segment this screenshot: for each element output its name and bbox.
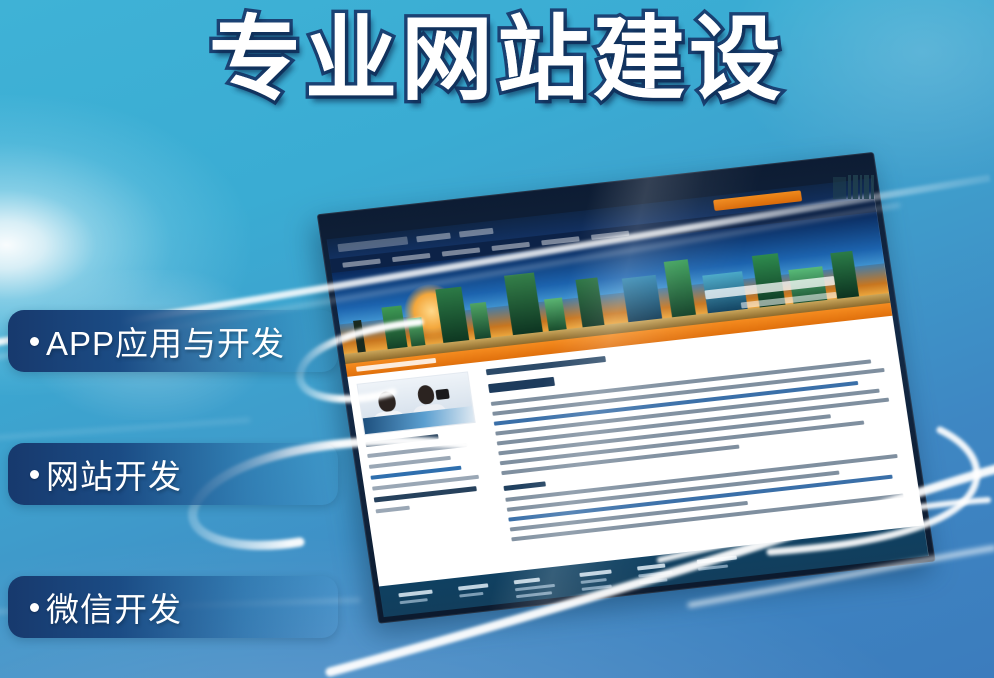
footer-link bbox=[638, 571, 672, 578]
footer-column bbox=[637, 563, 678, 613]
barcode-bar bbox=[871, 175, 874, 199]
sidebar-line bbox=[365, 434, 438, 447]
nav-link bbox=[416, 233, 451, 243]
footer-heading bbox=[697, 555, 737, 563]
person-head bbox=[417, 384, 436, 405]
feature-item-wechat[interactable]: 微信开发 bbox=[8, 576, 338, 638]
footer-link bbox=[582, 585, 612, 591]
footer-column bbox=[398, 590, 439, 618]
subnav-link bbox=[392, 252, 431, 261]
bullet-dot-icon bbox=[30, 337, 39, 346]
banner-canvas: 专业网站建设 专业网站建设 APP应用与开发 网站开发 微信开发 bbox=[0, 0, 994, 678]
subnav-link bbox=[342, 258, 381, 267]
article-line bbox=[508, 475, 893, 522]
footer-link bbox=[581, 578, 607, 584]
page-title: 专业网站建设 专业网站建设 bbox=[0, 8, 994, 112]
barcode-bar bbox=[864, 175, 869, 199]
camera-icon bbox=[435, 389, 449, 400]
footer-column bbox=[514, 576, 561, 617]
footer-heading bbox=[514, 578, 540, 585]
website-screen-mockup bbox=[317, 150, 958, 640]
footer-link bbox=[400, 598, 428, 604]
hero-building bbox=[544, 297, 567, 333]
feature-item-website[interactable]: 网站开发 bbox=[8, 443, 338, 505]
footer-link bbox=[640, 585, 672, 592]
bullet-dot-icon bbox=[30, 603, 39, 612]
person-head bbox=[377, 391, 397, 413]
footer-link bbox=[519, 612, 551, 617]
sidebar-line bbox=[369, 456, 451, 469]
barcode-mark bbox=[833, 173, 875, 199]
feature-item-app[interactable]: APP应用与开发 bbox=[8, 310, 338, 372]
nav-link bbox=[459, 228, 494, 238]
footer-link bbox=[518, 605, 556, 612]
feature-label: APP应用与开发 bbox=[46, 317, 285, 365]
barcode-bar bbox=[848, 175, 851, 199]
footer-heading bbox=[398, 590, 432, 598]
subnav-link bbox=[491, 241, 530, 250]
footer-heading bbox=[637, 563, 665, 570]
feature-label: 网站开发 bbox=[46, 450, 182, 498]
footer-link bbox=[517, 599, 547, 605]
feature-label: 微信开发 bbox=[46, 583, 182, 631]
hero-building bbox=[470, 302, 492, 341]
sidebar-line bbox=[376, 506, 411, 514]
footer-column bbox=[579, 569, 618, 617]
footer-column bbox=[697, 555, 744, 606]
article-section-heading bbox=[503, 481, 546, 491]
barcode-bar bbox=[833, 177, 846, 199]
article-title bbox=[488, 377, 555, 393]
subnav-link bbox=[541, 236, 580, 245]
hero-building bbox=[622, 275, 663, 324]
bullet-dot-icon bbox=[30, 470, 39, 479]
footer-link bbox=[459, 592, 483, 598]
footer-link bbox=[516, 591, 552, 598]
footer-link bbox=[515, 584, 555, 591]
footer-heading bbox=[458, 583, 488, 590]
subnav-link bbox=[591, 230, 630, 239]
article-line bbox=[505, 454, 897, 502]
website-page bbox=[327, 178, 929, 617]
article-breadcrumb bbox=[486, 356, 606, 375]
footer-link bbox=[639, 578, 667, 584]
monitor-bezel bbox=[317, 152, 936, 624]
hero-chimney bbox=[353, 320, 366, 355]
barcode-bar bbox=[853, 175, 858, 199]
subnav-link bbox=[442, 247, 481, 256]
footer-link bbox=[698, 564, 728, 570]
barcode-bar bbox=[860, 175, 862, 199]
page-title-fill: 专业网站建设 bbox=[0, 8, 994, 112]
footer-column bbox=[458, 583, 495, 617]
site-logo bbox=[337, 236, 408, 252]
sidebar-photo bbox=[357, 371, 476, 435]
footer-heading bbox=[579, 569, 611, 577]
